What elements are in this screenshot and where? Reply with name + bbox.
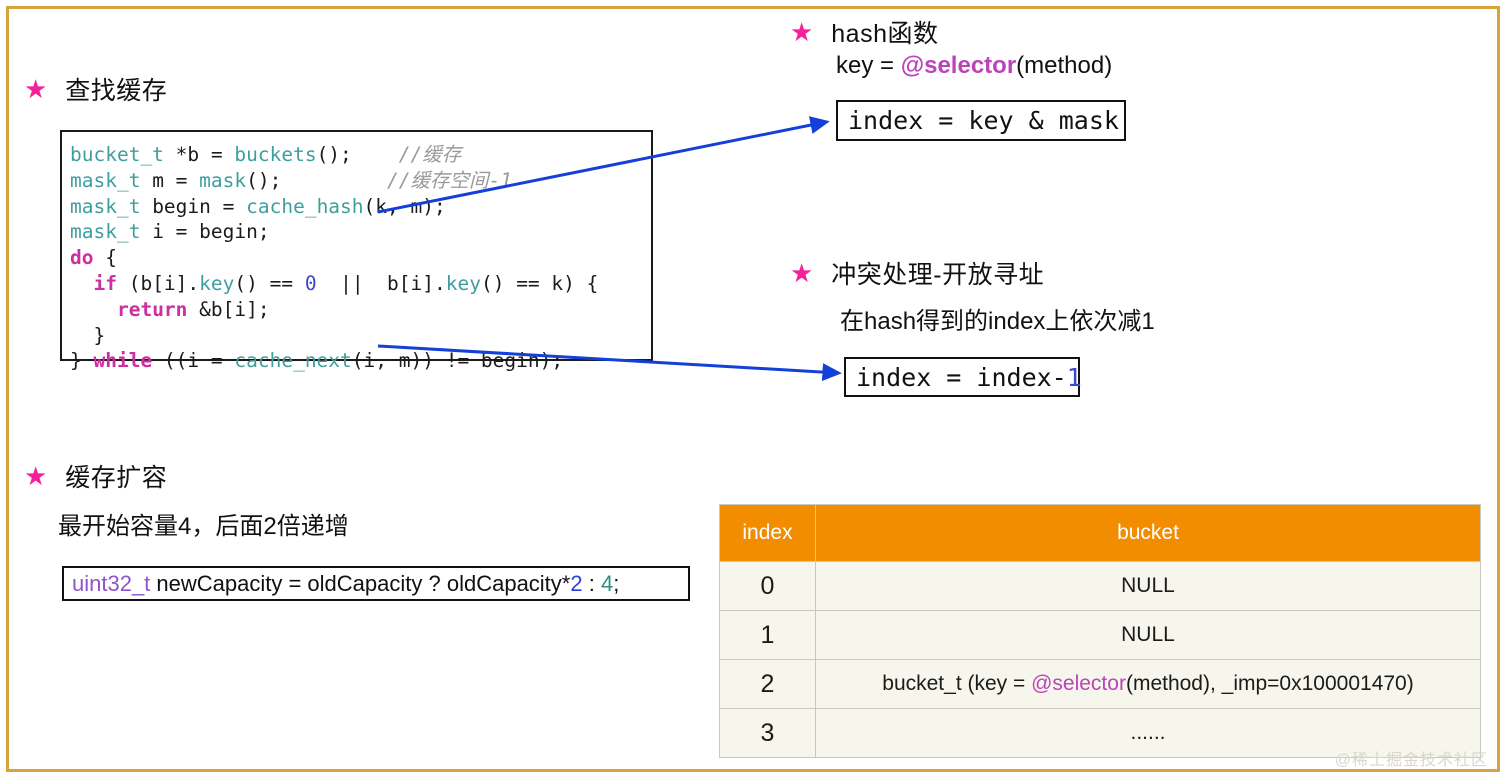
code-token: //缓存 [399,143,461,166]
capacity-separator: : [583,571,601,597]
code-token: begin = [140,195,246,218]
code-token: //缓存空间-1 [387,169,512,192]
heading-expansion: ★ 缓存扩容 [24,458,167,494]
code-line: bucket_t *b = buckets(); //缓存 [70,142,651,168]
cell-index: 3 [720,709,816,758]
formula-hash-index: index = key & mask [836,100,1126,141]
collision-detail: 在hash得到的index上依次减1 [840,301,1155,336]
selector-keyword: @selector [1031,672,1126,695]
star-icon: ★ [24,76,47,102]
formula-new-capacity: uint32_t newCapacity = oldCapacity ? old… [62,566,690,601]
code-token: do [70,246,93,269]
hash-key-suffix: (method) [1016,52,1112,79]
column-header-index: index [720,505,816,562]
code-token: key [446,272,481,295]
bucket-suffix: (method), _imp=0x100001470) [1126,672,1414,695]
code-token: bucket_t [70,143,164,166]
code-token: } [70,349,93,372]
bucket-table: index bucket 0NULL1NULL2bucket_t (key = … [719,504,1481,758]
cell-index: 0 [720,562,816,611]
capacity-expression: newCapacity = oldCapacity ? oldCapacity* [150,571,570,597]
code-token: () == [234,272,304,295]
heading-hash-function-label: hash函数 [831,14,938,50]
code-token: (b[i]. [117,272,199,295]
star-icon: ★ [790,19,813,45]
code-line: return &b[i]; [70,297,651,323]
formula-probe-number: 1 [1067,363,1082,392]
watermark: @稀土掘金技术社区 [1335,746,1488,770]
capacity-type-keyword: uint32_t [72,571,150,597]
code-token: || b[i]. [317,272,446,295]
code-line: do { [70,245,651,271]
hash-key-prefix: key = [836,52,901,79]
capacity-multiplier: 2 [570,571,582,597]
formula-probe-index: index = index-1 [844,357,1080,397]
code-token: key [199,272,234,295]
code-block-cache-lookup: bucket_t *b = buckets(); //缓存mask_t m = … [60,130,653,361]
bucket-prefix: bucket_t (key = [882,672,1031,695]
table-row: 1NULL [720,611,1481,660]
hash-key-line: key = @selector(method) [836,52,1112,80]
code-line: } while ((i = cache_next(i, m)) != begin… [70,348,651,374]
heading-collision-label: 冲突处理-开放寻址 [831,255,1044,291]
code-token: cache_hash [246,195,363,218]
code-token: mask_t [70,169,140,192]
code-token: } [70,324,105,347]
table-row: 2bucket_t (key = @selector(method), _imp… [720,660,1481,709]
code-token: i = begin; [140,220,269,243]
code-token: *b = [164,143,234,166]
heading-expansion-label: 缓存扩容 [65,458,167,494]
code-token: mask [199,169,246,192]
code-token [70,272,93,295]
code-token: return [117,298,187,321]
code-token: while [93,349,152,372]
star-icon: ★ [24,463,47,489]
formula-probe-prefix: index = index- [856,363,1067,392]
code-token: (k, m); [364,195,446,218]
code-token: buckets [234,143,316,166]
code-line: mask_t i = begin; [70,219,651,245]
code-token: () == k) { [481,272,598,295]
heading-hash-function: ★ hash函数 [790,14,938,50]
column-header-bucket: bucket [816,505,1481,562]
code-token: { [93,246,116,269]
code-line: if (b[i].key() == 0 || b[i].key() == k) … [70,271,651,297]
star-icon: ★ [790,260,813,286]
code-token: (); [246,169,387,192]
slide-canvas: ★ 查找缓存 bucket_t *b = buckets(); //缓存mask… [0,0,1512,784]
code-token: &b[i]; [187,298,269,321]
table-header-row: index bucket [720,505,1481,562]
formula-hash-text: index = key & mask [848,106,1119,135]
heading-collision: ★ 冲突处理-开放寻址 [790,255,1044,291]
table-row: 0NULL [720,562,1481,611]
code-token: mask_t [70,220,140,243]
code-token [70,298,117,321]
heading-lookup-cache: ★ 查找缓存 [24,71,167,107]
code-token: mask_t [70,195,140,218]
code-token: ((i = [152,349,234,372]
code-token: m = [140,169,199,192]
code-line: mask_t begin = cache_hash(k, m); [70,194,651,220]
cell-bucket: NULL [816,611,1481,660]
cell-bucket: NULL [816,562,1481,611]
code-token: 0 [305,272,317,295]
code-token: if [93,272,116,295]
code-token: cache_next [234,349,351,372]
cell-index: 2 [720,660,816,709]
code-token: (i, m)) != begin); [352,349,563,372]
code-line: } [70,323,651,349]
capacity-terminator: ; [613,571,619,597]
code-line: mask_t m = mask(); //缓存空间-1 [70,168,651,194]
code-token: (); [317,143,399,166]
cell-bucket: bucket_t (key = @selector(method), _imp=… [816,660,1481,709]
cell-index: 1 [720,611,816,660]
selector-keyword: @selector [901,52,1016,79]
heading-lookup-cache-label: 查找缓存 [65,71,167,107]
capacity-initial: 4 [601,571,613,597]
expansion-detail: 最开始容量4，后面2倍递增 [58,506,349,541]
